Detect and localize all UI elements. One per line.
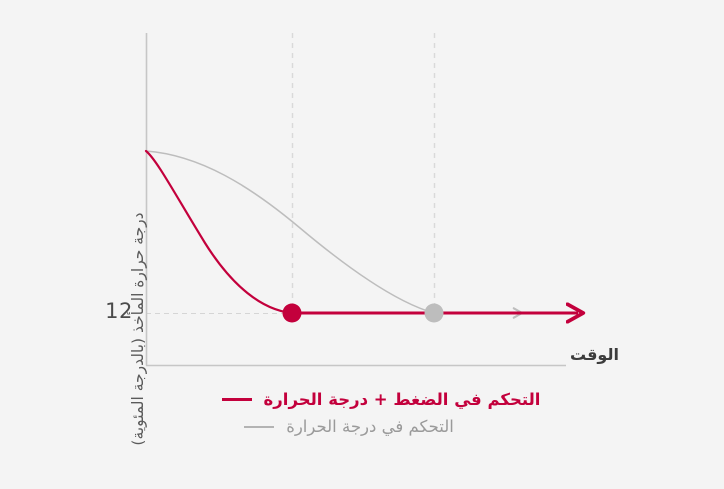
data-point-marker-primary[interactable] [283, 304, 302, 323]
series-line-secondary [146, 151, 434, 313]
y-axis-title: درجة حرارة المأخذ (بالدرجة المئوية) [129, 169, 155, 489]
legend-item-label: التحكم في الضغط + درجة الحرارة [264, 390, 541, 409]
chart-canvas: 12 درجة حرارة المأخذ (بالدرجة المئوية) ا… [0, 0, 724, 478]
line-swatch-icon [222, 398, 252, 401]
series-line-primary [146, 151, 292, 313]
legend-item-temperature[interactable]: التحكم في درجة الحرارة [0, 417, 711, 436]
series-pressure-and-temperature-control [146, 151, 578, 313]
x-axis-title: الوقت [570, 345, 619, 364]
series-temperature-control [146, 151, 519, 313]
legend-item-pressure-and-temperature[interactable]: التحكم في الضغط + درجة الحرارة [19, 390, 724, 409]
line-swatch-icon [244, 426, 274, 428]
axis-lines [146, 33, 566, 366]
legend-item-label: التحكم في درجة الحرارة [286, 417, 454, 436]
chart-legend: التحكم في الضغط + درجة الحرارة التحكم في… [0, 390, 724, 436]
data-point-marker-secondary[interactable] [425, 304, 444, 323]
